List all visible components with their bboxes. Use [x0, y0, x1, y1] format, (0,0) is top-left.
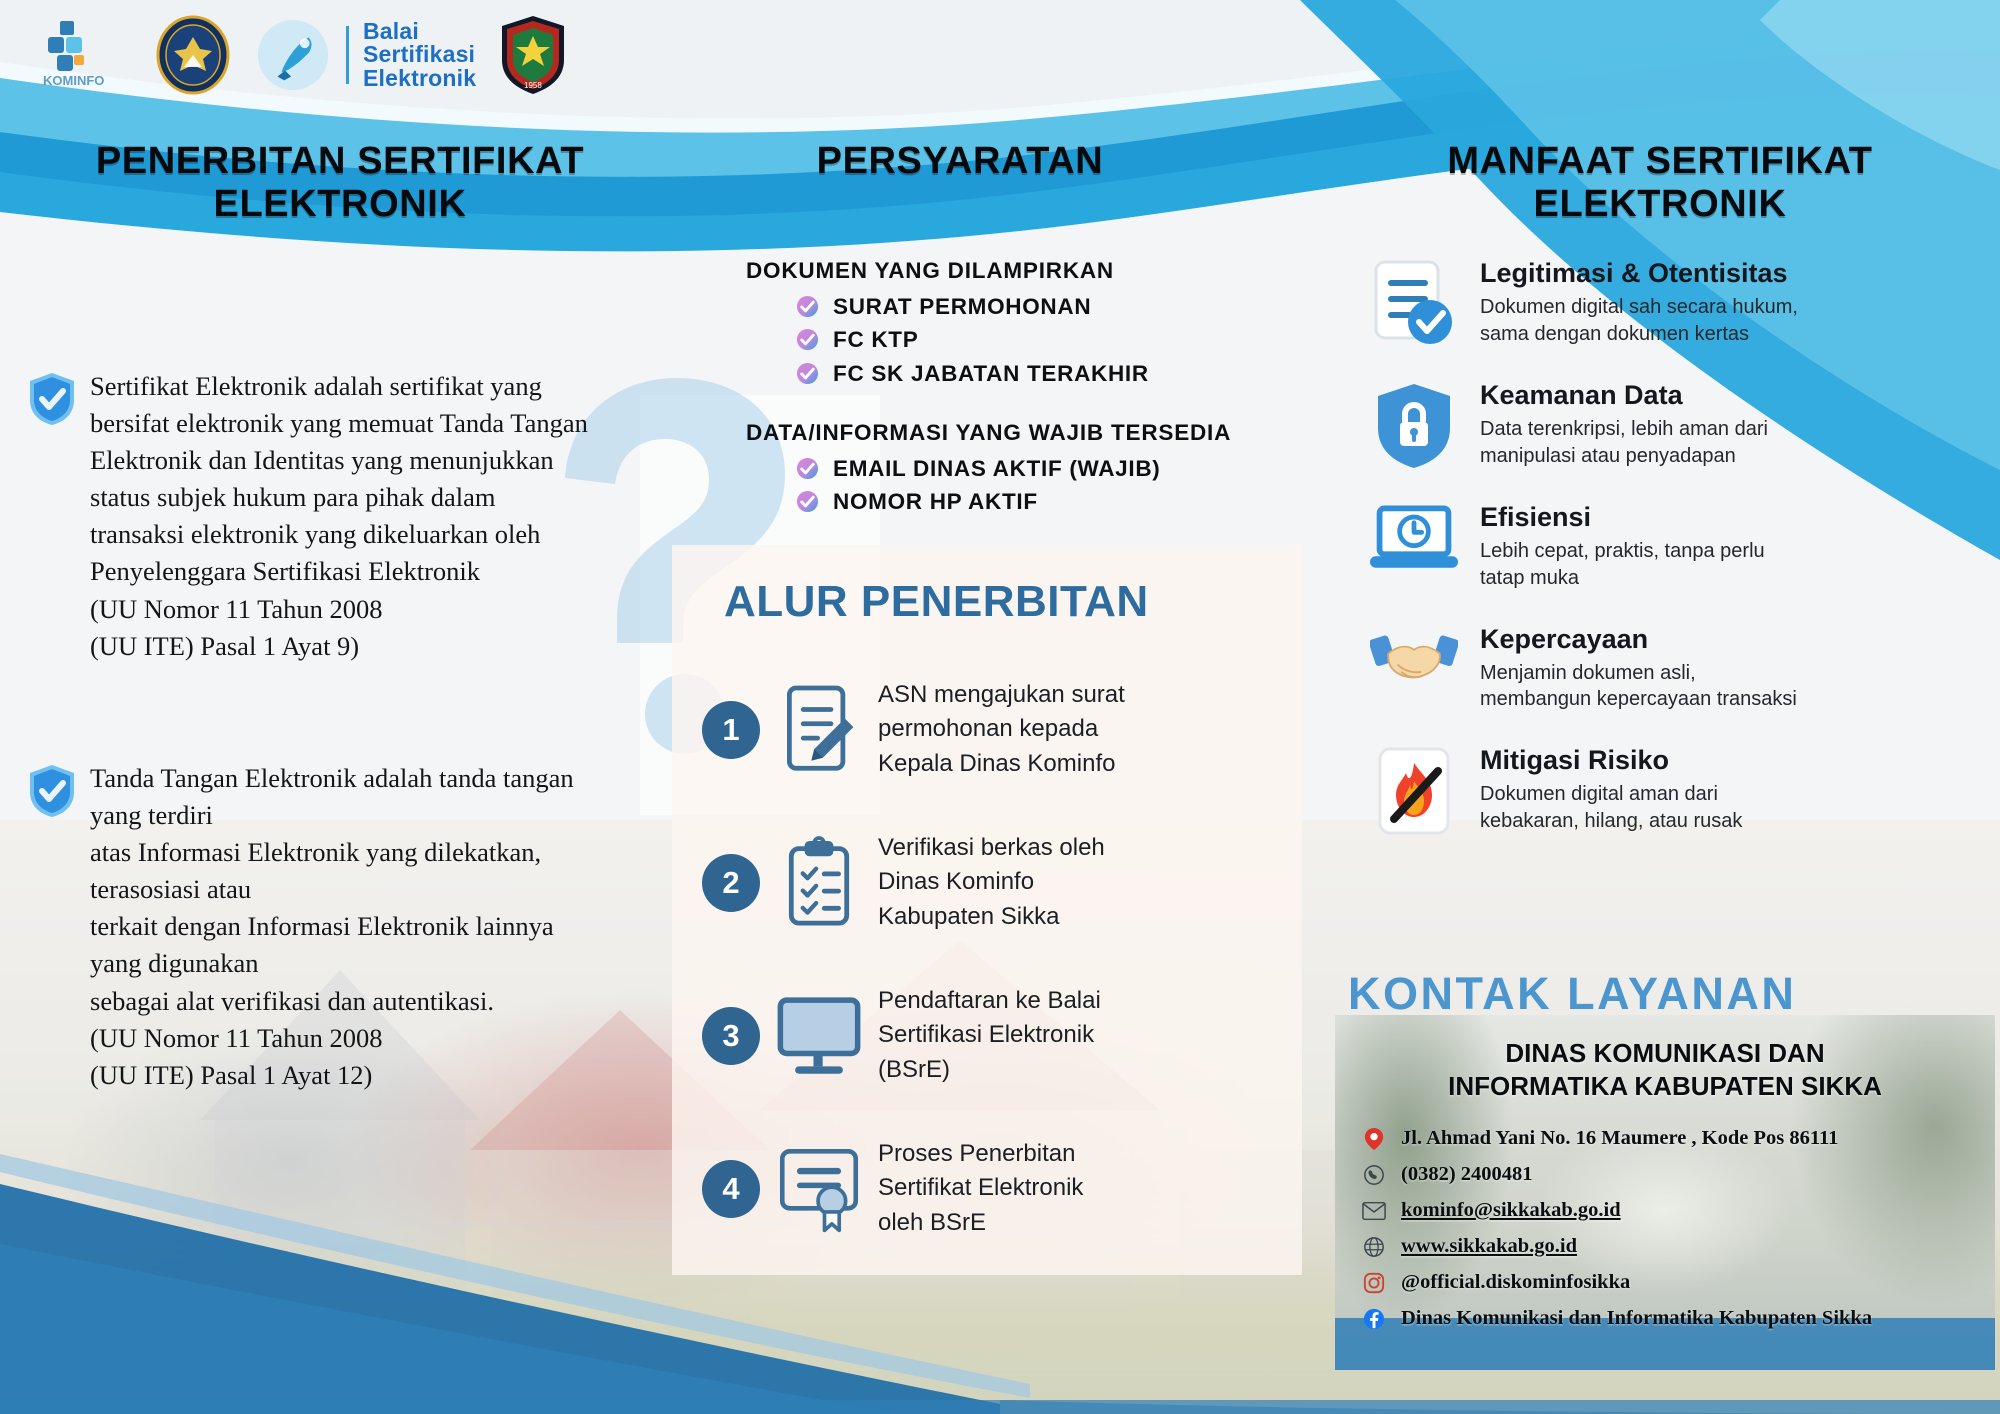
requirements-group2-list: EMAIL DINAS AKTIF (WAJIB) NOMOR HP AKTIF	[746, 452, 1306, 519]
step-number: 2	[702, 854, 760, 912]
location-pin-icon	[1361, 1126, 1387, 1152]
check-badge-icon	[796, 457, 819, 480]
benefit-desc: Menjamin dokumen asli, membangun keperca…	[1480, 660, 1797, 714]
step-text: ASN mengajukan surat permohonan kepada K…	[878, 678, 1125, 782]
list-item: SURAT PERMOHONAN	[796, 290, 1306, 323]
step-text: Pendaftaran ke Balai Sertifikasi Elektro…	[878, 984, 1101, 1088]
flow-card: ALUR PENERBITAN 1 ASN mengajukan surat p…	[672, 545, 1302, 1275]
benefit-item: Efisiensi Lebih cepat, praktis, tanpa pe…	[1370, 502, 1970, 592]
check-badge-icon	[796, 295, 819, 318]
list-item: FC KTP	[796, 323, 1306, 356]
requirement-label: NOMOR HP AKTIF	[833, 485, 1038, 518]
step-number: 3	[702, 1007, 760, 1065]
list-item: NOMOR HP AKTIF	[796, 485, 1306, 518]
definition-text: Sertifikat Elektronik adalah sertifikat …	[90, 368, 588, 665]
requirements-group2-title: DATA/INFORMASI YANG WAJIB TERSEDIA	[746, 420, 1306, 446]
phone-icon	[1361, 1162, 1387, 1188]
benefit-desc: Dokumen digital aman dari kebakaran, hil…	[1480, 781, 1742, 835]
globe-icon	[1361, 1234, 1387, 1260]
flow-step: 2 Verifikasi berkas oleh Dinas Komi	[672, 806, 1302, 959]
certificate-award-icon	[760, 1144, 878, 1234]
infographic-poster: KOMINFO Balai Sertifikasi Elektroni	[0, 0, 2000, 1414]
requirements-group1-list: SURAT PERMOHONAN FC KTP FC SK JABATAN TE…	[746, 290, 1306, 390]
benefit-title: Kepercayaan	[1480, 624, 1797, 655]
page-title-left: PENERBITAN SERTIFIKAT ELEKTRONIK	[70, 140, 610, 225]
contact-email[interactable]: kominfo@sikkakab.go.id	[1401, 1199, 1621, 1222]
contact-facebook: Dinas Komunikasi dan Informatika Kabupat…	[1401, 1307, 1872, 1330]
flow-step: 4 Proses Penerbitan Sertifikat Elektroni…	[672, 1112, 1302, 1265]
email-icon	[1361, 1198, 1387, 1224]
benefits-list: Legitimasi & Otentisitas Dokumen digital…	[1370, 258, 1970, 867]
contact-row-phone[interactable]: (0382) 2400481	[1361, 1162, 1969, 1188]
shield-check-icon	[28, 372, 76, 426]
requirement-label: EMAIL DINAS AKTIF (WAJIB)	[833, 452, 1161, 485]
contact-row-email[interactable]: kominfo@sikkakab.go.id	[1361, 1198, 1969, 1224]
benefit-title: Efisiensi	[1480, 502, 1765, 533]
svg-text:1958: 1958	[524, 81, 542, 90]
flow-step: 1 ASN mengajukan surat permohonan kepada…	[672, 653, 1302, 806]
contact-phone: (0382) 2400481	[1401, 1163, 1533, 1186]
benefit-title: Mitigasi Risiko	[1480, 745, 1742, 776]
benefit-title: Keamanan Data	[1480, 380, 1768, 411]
requirements-section: DOKUMEN YANG DILAMPIRKAN SURAT PERMOHONA…	[746, 258, 1306, 518]
shield-check-icon	[28, 764, 76, 818]
document-verified-icon	[1370, 258, 1458, 348]
benefit-item: Legitimasi & Otentisitas Dokumen digital…	[1370, 258, 1970, 348]
bsre-wordmark: Balai Sertifikasi Elektronik	[363, 20, 476, 90]
bsre-seal-icon	[254, 16, 332, 94]
list-item: EMAIL DINAS AKTIF (WAJIB)	[796, 452, 1306, 485]
garuda-logo	[154, 15, 232, 95]
contact-website[interactable]: www.sikkakab.go.id	[1401, 1235, 1577, 1258]
check-badge-icon	[796, 362, 819, 385]
step-text: Proses Penerbitan Sertifikat Elektronik …	[878, 1137, 1083, 1241]
flow-title: ALUR PENERBITAN	[672, 545, 1302, 627]
svg-text:KOMINFO: KOMINFO	[43, 73, 104, 88]
instagram-icon	[1361, 1270, 1387, 1296]
definition-text: Tanda Tangan Elektronik adalah tanda tan…	[90, 760, 574, 1094]
benefit-desc: Lebih cepat, praktis, tanpa perlu tatap …	[1480, 538, 1765, 592]
bsre-logo: Balai Sertifikasi Elektronik	[254, 16, 476, 94]
contact-address: Jl. Ahmad Yani No. 16 Maumere , Kode Pos…	[1401, 1127, 1838, 1150]
flow-step: 3 Pendaftaran ke Balai Sertifikasi Elekt…	[672, 959, 1302, 1112]
clipboard-check-icon	[760, 835, 878, 931]
step-number: 4	[702, 1160, 760, 1218]
contact-row-website[interactable]: www.sikkakab.go.id	[1361, 1234, 1969, 1260]
requirements-group1-title: DOKUMEN YANG DILAMPIRKAN	[746, 258, 1306, 284]
requirement-label: SURAT PERMOHONAN	[833, 290, 1091, 323]
contact-instagram: @official.diskominfosikka	[1401, 1271, 1630, 1294]
contact-list: Jl. Ahmad Yani No. 16 Maumere , Kode Pos…	[1361, 1126, 1969, 1332]
no-fire-icon	[1370, 745, 1458, 835]
list-item: FC SK JABATAN TERAKHIR	[796, 357, 1306, 390]
sikka-crest-logo: 1958	[498, 14, 568, 96]
benefit-item: Kepercayaan Menjamin dokumen asli, memba…	[1370, 624, 1970, 714]
page-title-right: MANFAAT SERTIFIKAT ELEKTRONIK	[1380, 140, 1940, 225]
flow-steps: 1 ASN mengajukan surat permohonan kepada…	[672, 653, 1302, 1265]
benefit-item: Keamanan Data Data terenkripsi, lebih am…	[1370, 380, 1970, 470]
benefit-title: Legitimasi & Otentisitas	[1480, 258, 1798, 289]
contact-org-name: DINAS KOMUNIKASI DAN INFORMATIKA KABUPAT…	[1361, 1037, 1969, 1104]
benefit-desc: Dokumen digital sah secara hukum, sama d…	[1480, 294, 1798, 348]
requirement-label: FC KTP	[833, 323, 918, 356]
benefit-desc: Data terenkripsi, lebih aman dari manipu…	[1480, 416, 1768, 470]
contact-row-facebook[interactable]: Dinas Komunikasi dan Informatika Kabupat…	[1361, 1306, 1969, 1332]
kominfo-logo: KOMINFO	[40, 15, 132, 95]
step-text: Verifikasi berkas oleh Dinas Kominfo Kab…	[878, 831, 1105, 935]
check-badge-icon	[796, 328, 819, 351]
monitor-icon	[760, 992, 878, 1080]
contact-row-instagram[interactable]: @official.diskominfosikka	[1361, 1270, 1969, 1296]
step-number: 1	[702, 701, 760, 759]
facebook-icon	[1361, 1306, 1387, 1332]
document-pen-icon	[760, 682, 878, 778]
contact-section-title: KONTAK LAYANAN	[1348, 968, 1796, 1020]
logo-bar: KOMINFO Balai Sertifikasi Elektroni	[0, 0, 780, 110]
definition-block-sertifikat: Sertifikat Elektronik adalah sertifikat …	[28, 368, 648, 665]
check-badge-icon	[796, 490, 819, 513]
definition-block-tanda-tangan: Tanda Tangan Elektronik adalah tanda tan…	[28, 760, 658, 1094]
shield-lock-icon	[1370, 380, 1458, 470]
contact-row-address: Jl. Ahmad Yani No. 16 Maumere , Kode Pos…	[1361, 1126, 1969, 1152]
requirement-label: FC SK JABATAN TERAKHIR	[833, 357, 1149, 390]
benefit-item: Mitigasi Risiko Dokumen digital aman dar…	[1370, 745, 1970, 835]
handshake-icon	[1370, 624, 1458, 692]
page-title-middle: PERSYARATAN	[740, 140, 1180, 183]
contact-card: DINAS KOMUNIKASI DAN INFORMATIKA KABUPAT…	[1335, 1015, 1995, 1370]
laptop-clock-icon	[1370, 502, 1458, 574]
